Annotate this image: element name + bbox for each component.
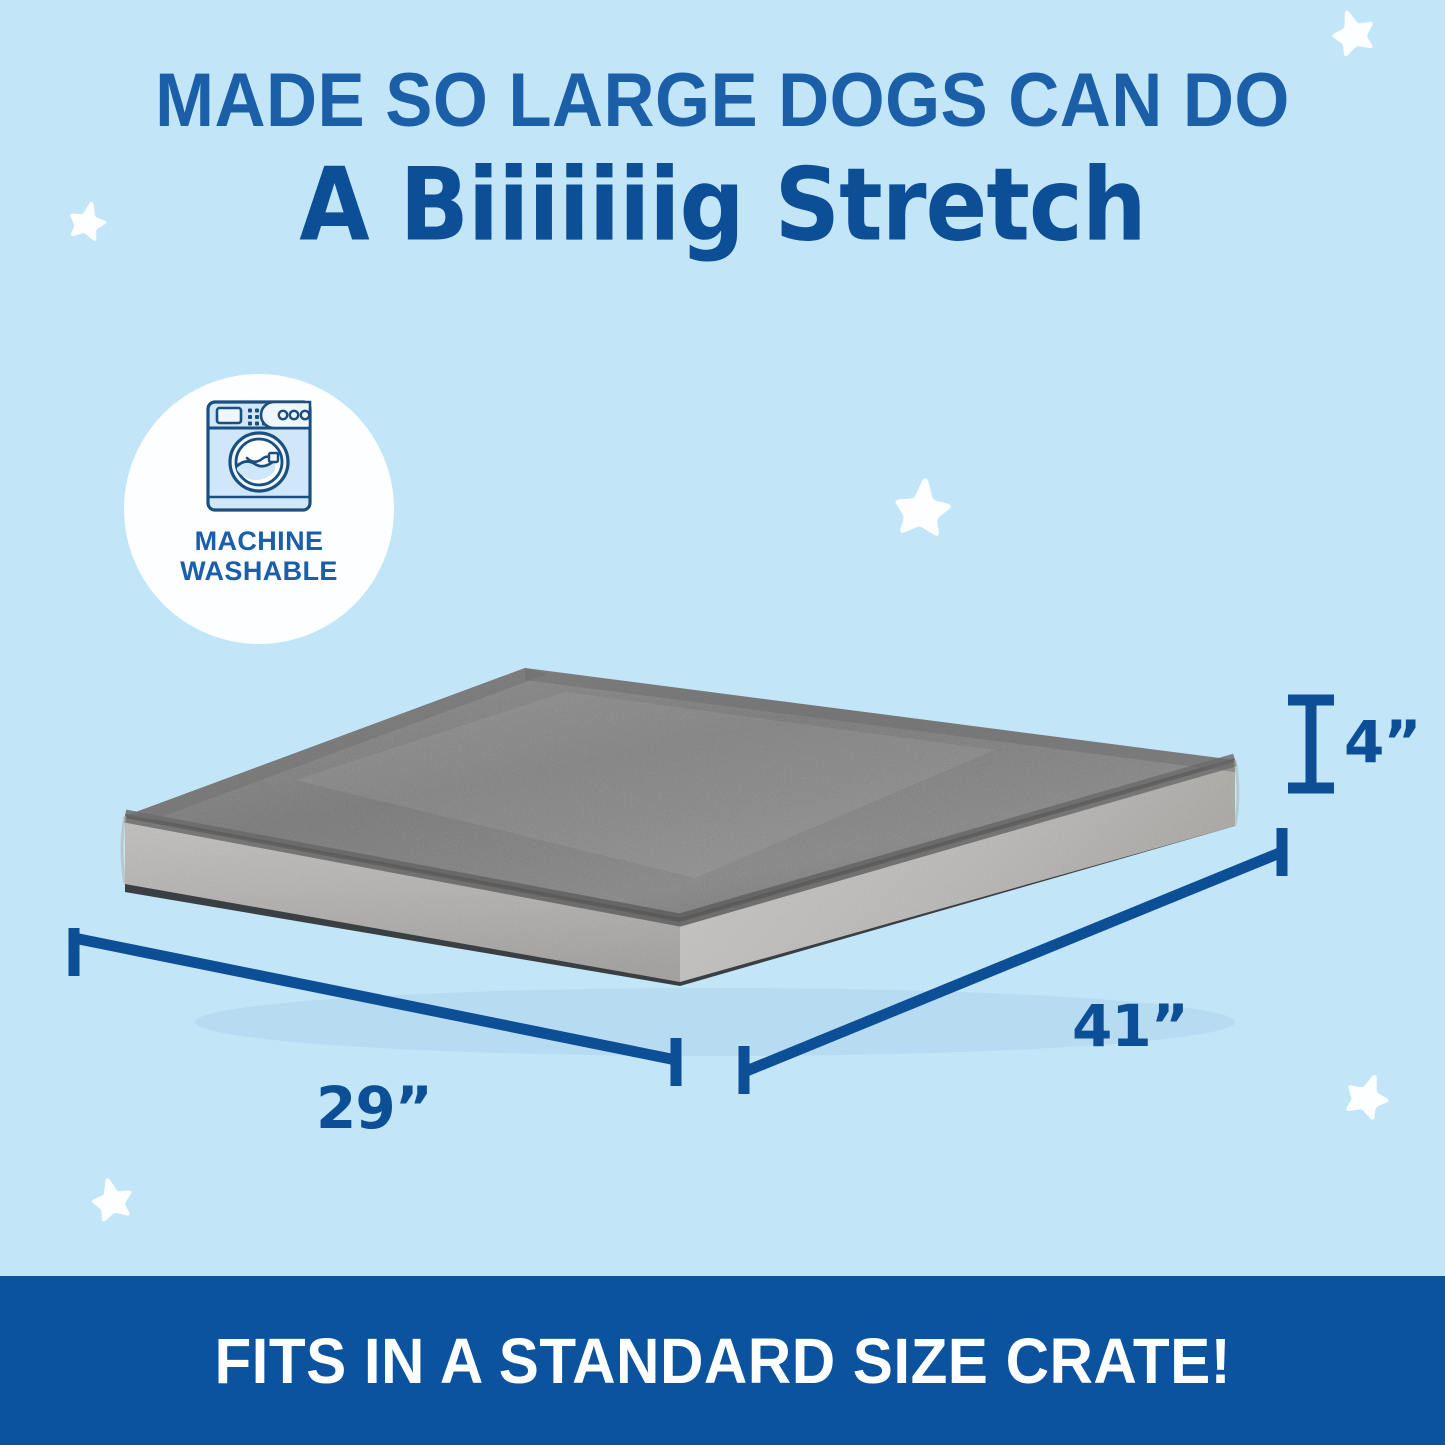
product-infographic: MADE SO LARGE DOGS CAN DO A Biiiiiiig St… xyxy=(0,0,1445,1445)
dimension-label-height: 4” xyxy=(1344,708,1420,776)
dimension-label-width: 29” xyxy=(316,1074,432,1142)
dimension-line-width xyxy=(74,928,676,1086)
dimension-label-length: 41” xyxy=(1072,992,1188,1060)
dimension-lines-layer xyxy=(0,0,1445,1445)
dimension-line-length xyxy=(744,828,1282,1094)
dimension-line-height xyxy=(1288,700,1334,788)
banner-text: FITS IN A STANDARD SIZE CRATE! xyxy=(214,1324,1231,1398)
bottom-banner: FITS IN A STANDARD SIZE CRATE! xyxy=(0,1276,1445,1445)
